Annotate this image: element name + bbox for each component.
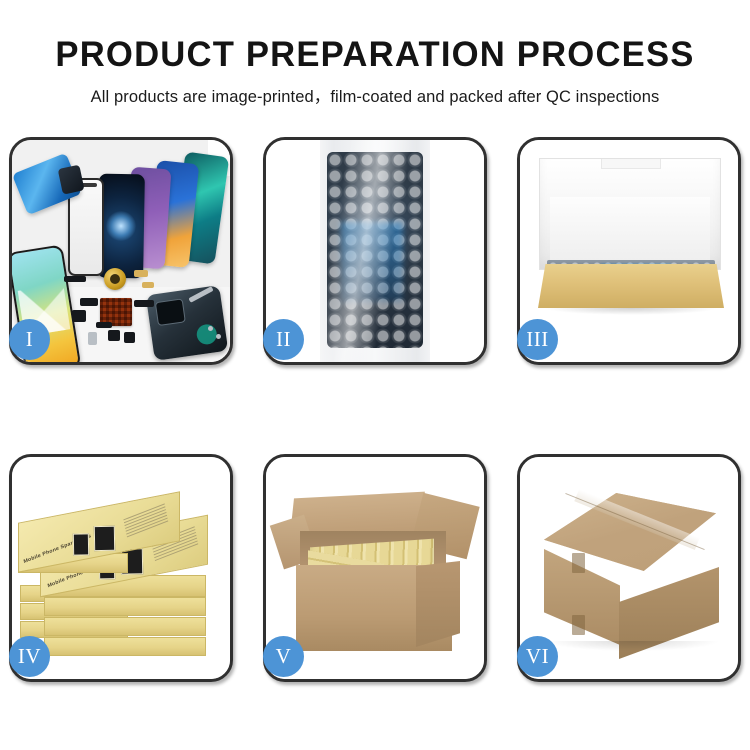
process-step-grid: I II III [9,137,741,682]
box-thumbnail [94,526,115,551]
process-step-panel-5: V [263,454,487,682]
step-badge-3: III [517,319,558,360]
process-step-panel-3: III [517,137,741,365]
process-step-panel-6: VI [517,454,741,682]
stacked-box [44,597,206,616]
phone-back-shell-icon [146,285,228,361]
product-preparation-page: PRODUCT PREPARATION PROCESS All products… [0,0,750,750]
spare-part [216,334,221,339]
spare-part [142,282,154,288]
mailer-box-base [538,264,724,308]
page-subtitle: All products are image-printed，film-coat… [0,83,750,107]
box-spec-lines [123,503,168,539]
wrapped-screen-icon [327,152,423,348]
spare-part [64,276,86,282]
mailer-box-lid [539,158,721,270]
phone-dark-icon [97,174,145,279]
step-badge-5: V [263,636,304,677]
spare-part [88,332,97,345]
carton-side-face [416,561,460,647]
sealed-carton-top [544,493,716,571]
step-badge-4: IV [9,636,50,677]
drop-shadow [544,308,718,315]
process-step-panel-2: II [263,137,487,365]
stacked-box [44,617,206,636]
carton-seam [572,553,585,573]
process-step-panel-4: Mobile Phone Spare Parts Mobile Phone Sp… [9,454,233,682]
step-badge-1: I [9,319,50,360]
step-badge-6: VI [517,636,558,677]
drop-shadow [548,641,718,651]
step-badge-2: II [263,319,304,360]
speaker-coil-icon [104,268,126,290]
process-step-panel-1: I [9,137,233,365]
spare-part [208,326,213,331]
spare-part [96,322,112,328]
spare-part [134,270,148,277]
page-title: PRODUCT PREPARATION PROCESS [4,34,747,76]
carton-seam [572,615,585,635]
spare-part [108,330,120,341]
stacked-box [44,637,206,656]
spare-part [124,332,135,343]
box-thumbnail [73,533,89,555]
spare-part [134,300,154,307]
spare-part [80,298,98,306]
spare-part [72,310,86,322]
page-header: PRODUCT PREPARATION PROCESS All products… [0,0,750,107]
